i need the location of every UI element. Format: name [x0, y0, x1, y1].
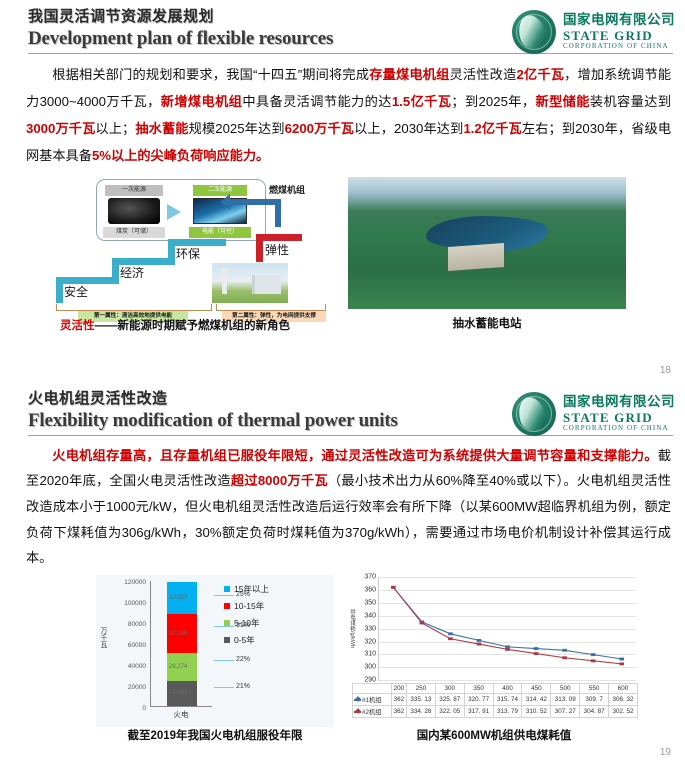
data-table-cell: 310. 52: [522, 706, 551, 718]
slide-flexible-resources: 我国灵活调节资源发展规划 Development plan of flexibl…: [0, 0, 685, 382]
data-table-row-header-2: #2机组: [353, 706, 392, 718]
step-environment-riser: [168, 239, 175, 265]
energy-conversion-box: 一次能源 二次能源 煤炭（可储） 电能（可控）: [96, 179, 266, 241]
brace-attr1: [56, 304, 212, 311]
step-flexibility-riser: [256, 234, 263, 262]
bar-ytick: 100000: [124, 600, 146, 607]
legend-label-0to5: 0-5年: [234, 634, 255, 646]
p1-t1: 根据相关部门的规划和要求，我国“十四五”期间将完成: [52, 67, 369, 82]
line-marker: [505, 646, 510, 649]
line-marker: [591, 660, 596, 663]
bar-plot-area: 30,934 37,196 26,274 24,651: [150, 581, 212, 707]
data-table-col-header: 350: [464, 684, 493, 694]
bar-ytick: 60000: [128, 642, 146, 649]
diagram-caption-key: 灵活性: [60, 320, 95, 332]
data-table-cell: 314. 42: [522, 694, 551, 706]
p1-h5: 新型储能: [536, 94, 590, 109]
slide1-figures: 一次能源 二次能源 煤炭（可储） 电能（可控） 燃煤机组 安全 经济 环保: [0, 175, 685, 345]
p1-h3: 新增煤电机组: [161, 94, 243, 109]
line-chart-caption: 国内某600MW机组供电煤耗值: [348, 727, 640, 743]
line-marker: [591, 653, 596, 656]
line-ytick: 300: [364, 664, 376, 671]
p2-h2: 超过8000万千瓦: [231, 473, 328, 488]
p1-h4: 1.5亿千瓦: [392, 94, 452, 109]
legend-swatch-5to10: [224, 620, 230, 626]
data-table-col-header: 400: [493, 684, 522, 694]
p2-h1: 火电机组存量高，且存量机组已服役年限短，通过灵活性改造可为系统提供大量调节容量和…: [52, 448, 658, 463]
line-ytick: 310: [364, 651, 376, 658]
data-table-row: #2机组362334. 28322. 05317. 91313. 79310. …: [353, 706, 638, 718]
line-chart-data-table: 200250300350400450500550600 #1机组362335. …: [352, 683, 638, 718]
logo-company-sub-en: CORPORATION OF CHINA: [563, 425, 675, 432]
data-table-cell: 322. 05: [435, 706, 464, 718]
bar-percent-0to5: 21%: [236, 683, 250, 690]
legend-item-0to5: 0-5年: [224, 634, 269, 646]
data-table-cell: 362: [391, 706, 406, 718]
line-ytick: 360: [364, 587, 376, 594]
bar-chart-caption: 截至2019年我国火电机组服役年限: [96, 727, 334, 743]
bar-value-10to15: 37,196: [169, 631, 187, 637]
line-marker: [562, 649, 567, 652]
line-ytick: 370: [364, 574, 376, 581]
service-life-bar-chart: 万千瓦 120000 100000 80000 60000 40000 2000…: [96, 575, 334, 727]
data-table-corner: [353, 684, 392, 694]
p1-h8: 6200万千瓦: [285, 121, 354, 136]
bar-segment-15plus: 30,934: [167, 582, 197, 614]
legend-swatch-10to15: [224, 603, 230, 609]
slide1-page-number: 18: [660, 365, 671, 376]
line-ytick: 320: [364, 638, 376, 645]
tag-primary-energy: 一次能源: [105, 185, 163, 196]
bar-x-axis-label: 火电: [150, 709, 212, 720]
bar-ytick: 0: [142, 705, 146, 712]
line-ytick: 340: [364, 612, 376, 619]
step-label-safety: 安全: [64, 283, 88, 300]
data-table-col-header: 450: [522, 684, 551, 694]
series-marker-icon: [354, 711, 361, 713]
line-marker: [391, 586, 396, 589]
data-table-row: #1机组362335. 13325. 87320. 77315. 74314. …: [353, 694, 638, 706]
bar-percent-5to10: 22%: [236, 656, 250, 663]
bar-ytick: 120000: [124, 579, 146, 586]
data-table-cell: 306. 32: [609, 694, 638, 706]
data-table-cell: 313. 09: [551, 694, 580, 706]
p1-h6: 3000万千瓦: [26, 121, 95, 136]
coal-consumption-line-chart: 供电煤耗/g/kWh 370 360 350 340 330 320 310 3…: [348, 575, 640, 727]
logo-company-en: STATE GRID: [563, 29, 675, 43]
state-grid-logo: 国家电网有限公司 STATE GRID CORPORATION OF CHINA: [512, 392, 675, 436]
legend-item-10to15: 10-15年: [224, 600, 269, 612]
step-safety-riser: [56, 277, 63, 303]
state-grid-emblem-icon: [512, 392, 556, 436]
flexibility-role-diagram: 一次能源 二次能源 煤炭（可储） 电能（可控） 燃煤机组 安全 经济 环保: [44, 177, 338, 327]
slide1-paragraph: 根据相关部门的规划和要求，我国“十四五”期间将完成存量煤电机组灵活性改造2亿千瓦…: [26, 61, 671, 169]
data-table-col-header: 600: [609, 684, 638, 694]
p1-h9: 1.2亿千瓦: [463, 121, 521, 136]
p1-t6: 装机容量达到: [590, 94, 671, 109]
bar-value-5to10: 26,274: [169, 664, 187, 670]
gridline: 290: [379, 680, 636, 681]
line-marker: [534, 647, 539, 650]
data-table-cell: 309. 7: [580, 694, 609, 706]
logo-company-cn: 国家电网有限公司: [563, 395, 675, 409]
step-label-economy: 经济: [120, 264, 144, 281]
p1-t2: 灵活性改造: [450, 67, 517, 82]
p1-t7: 以上；: [95, 121, 135, 136]
p1-h10: 5%以上的尖峰负荷响应能力。: [92, 148, 269, 163]
data-table-cell: 335. 13: [406, 694, 435, 706]
tag-coal-storable: 煤炭（可储）: [103, 227, 165, 238]
line-marker: [505, 648, 510, 651]
slide2-charts: 万千瓦 120000 100000 80000 60000 40000 2000…: [0, 575, 685, 761]
conversion-arrow-icon: [167, 204, 181, 220]
line-series-svg: [379, 577, 636, 680]
photo-caption: 抽水蓄能电站: [348, 315, 626, 331]
line-ytick: 330: [364, 625, 376, 632]
data-table-cell: 334. 28: [406, 706, 435, 718]
downward-arrow-icon: [275, 199, 281, 227]
data-table-cell: 362: [391, 694, 406, 706]
legend-swatch-15plus: [224, 586, 230, 592]
logo-company-cn: 国家电网有限公司: [563, 13, 675, 27]
legend-label-10to15: 10-15年: [234, 600, 264, 612]
line-marker: [619, 663, 624, 666]
legend-label-5to10: 5-10年: [234, 617, 260, 629]
line-marker: [477, 643, 482, 646]
p1-t8: 规模2025年达到: [189, 121, 285, 136]
brace-attr2: [216, 304, 326, 311]
diagram-caption: 灵活性——新能源时期赋予燃煤机组的新角色: [40, 317, 310, 333]
data-table-cell: 325. 87: [435, 694, 464, 706]
legend-item-15plus: 15年以上: [224, 583, 269, 595]
data-table-col-header: 300: [435, 684, 464, 694]
p1-t4: 中具备灵活调节能力的达: [242, 94, 392, 109]
legend-swatch-0to5: [224, 637, 230, 643]
p1-h1: 存量煤电机组: [369, 67, 449, 82]
bar-ytick: 40000: [128, 663, 146, 670]
bar-chart-legend: 15年以上 10-15年 5-10年 0-5年: [224, 583, 269, 651]
data-table-cell: 320. 77: [464, 694, 493, 706]
logo-text-block: 国家电网有限公司 STATE GRID CORPORATION OF CHINA: [563, 395, 675, 432]
legend-label-15plus: 15年以上: [234, 583, 269, 595]
data-table-col-header: 250: [406, 684, 435, 694]
stacked-bar-column: 30,934 37,196 26,274 24,651: [167, 582, 197, 706]
p1-h7: 抽水蓄能: [135, 121, 188, 136]
tag-electricity-controllable: 电能（可控）: [189, 227, 251, 238]
line-series-2: [393, 588, 621, 665]
bar-segment-5to10: 26,274: [167, 653, 197, 680]
slide2-page-number: 19: [660, 747, 671, 758]
data-table-col-header: 500: [551, 684, 580, 694]
series-marker-icon: [354, 699, 361, 701]
data-table-header-row: 200250300350400450500550600: [353, 684, 638, 694]
line-plot-area: 370 360 350 340 330 320 310 300 290: [378, 577, 636, 681]
line-ytick: 350: [364, 599, 376, 606]
step-label-environment: 环保: [176, 245, 200, 262]
coal-pile-icon: [108, 198, 160, 224]
step-economy-riser: [112, 258, 119, 284]
bar-segment-0to5: 24,651: [167, 681, 197, 707]
logo-company-sub-en: CORPORATION OF CHINA: [563, 43, 675, 50]
data-table-cell: 313. 79: [493, 706, 522, 718]
label-coal-fired-unit: 燃煤机组: [269, 183, 305, 196]
diagram-caption-rest: ——新能源时期赋予燃煤机组的新角色: [95, 320, 291, 332]
state-grid-logo: 国家电网有限公司 STATE GRID CORPORATION OF CHINA: [512, 10, 675, 54]
logo-company-en: STATE GRID: [563, 411, 675, 425]
thermal-plant-photo: [212, 263, 288, 303]
slide2-paragraph: 火电机组存量高，且存量机组已服役年限短，通过灵活性改造可为系统提供大量调节容量和…: [26, 443, 671, 572]
line-marker: [477, 639, 482, 642]
line-marker: [619, 658, 624, 661]
bar-ytick: 80000: [128, 621, 146, 628]
data-table-col-header: 550: [580, 684, 609, 694]
data-table-cell: 302. 52: [609, 706, 638, 718]
slide-flexibility-modification: 火电机组灵活性改造 Flexibility modification of th…: [0, 382, 685, 764]
step-label-flexibility: 弹性: [265, 241, 289, 258]
line-marker: [420, 622, 425, 625]
line-y-axis-title: 供电煤耗/g/kWh: [348, 609, 356, 648]
p1-t9: 以上，2030年达到: [354, 121, 463, 136]
legend-item-5to10: 5-10年: [224, 617, 269, 629]
data-table-cell: 317. 91: [464, 706, 493, 718]
bar-y-axis-ticks: 120000 100000 80000 60000 40000 20000 0: [104, 579, 148, 709]
logo-text-block: 国家电网有限公司 STATE GRID CORPORATION OF CHINA: [563, 13, 675, 50]
line-marker: [448, 638, 453, 641]
pumped-storage-photo: [348, 177, 626, 309]
data-table-col-header: 200: [391, 684, 406, 694]
line-marker: [534, 652, 539, 655]
line-marker: [562, 657, 567, 660]
bar-value-15plus: 30,934: [169, 595, 187, 601]
line-marker: [448, 633, 453, 636]
data-table-row-header-1: #1机组: [353, 694, 392, 706]
data-table-cell: 315. 74: [493, 694, 522, 706]
data-table-cell: 307. 27: [551, 706, 580, 718]
bar-value-0to5: 24,651: [169, 690, 187, 696]
state-grid-emblem-icon: [512, 10, 556, 54]
inbound-arrow-icon: [229, 199, 281, 205]
p1-h2: 2亿千瓦: [516, 67, 564, 82]
bar-segment-10to15: 37,196: [167, 614, 197, 653]
bar-ytick: 20000: [128, 684, 146, 691]
data-table-cell: 304. 87: [580, 706, 609, 718]
data-table-body: #1机组362335. 13325. 87320. 77315. 74314. …: [353, 694, 638, 718]
p1-t5: ；到2025年，: [451, 94, 535, 109]
